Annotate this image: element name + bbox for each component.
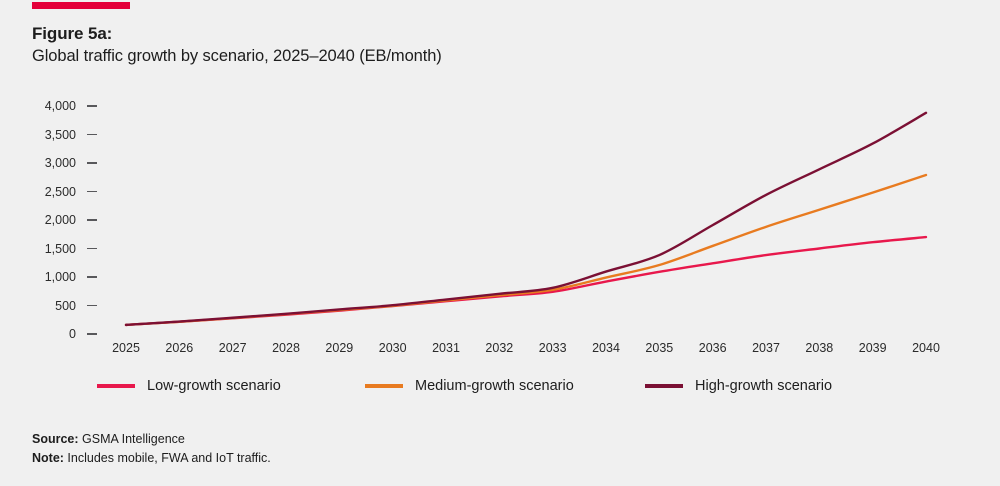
y-axis-tick-mark <box>87 219 97 221</box>
legend-item[interactable]: Low-growth scenario <box>97 378 281 394</box>
x-axis-tick-label: 2036 <box>686 341 740 355</box>
y-axis-tick-label: 500 <box>14 299 76 313</box>
x-axis-tick-label: 2039 <box>846 341 900 355</box>
x-axis-tick-label: 2033 <box>526 341 580 355</box>
y-axis-tick-label: 0 <box>14 327 76 341</box>
x-axis-tick-label: 2028 <box>259 341 313 355</box>
y-axis-tick-label: 1,500 <box>14 242 76 256</box>
note-text: Includes mobile, FWA and IoT traffic. <box>64 451 271 465</box>
x-axis-tick-label: 2037 <box>739 341 793 355</box>
y-axis-tick-mark <box>87 191 97 193</box>
legend-label: High-growth scenario <box>695 378 832 394</box>
x-axis-tick-label: 2029 <box>312 341 366 355</box>
source-label: Source: <box>32 432 79 446</box>
legend-swatch-icon <box>645 384 683 387</box>
y-axis-tick-label: 3,000 <box>14 156 76 170</box>
chart-plot-area <box>0 0 1000 486</box>
note-label: Note: <box>32 451 64 465</box>
x-axis-tick-label: 2040 <box>899 341 953 355</box>
x-axis-tick-label: 2038 <box>792 341 846 355</box>
x-axis-tick-label: 2026 <box>152 341 206 355</box>
chart-svg <box>0 0 1000 486</box>
legend-label: Low-growth scenario <box>147 378 281 394</box>
source-text: GSMA Intelligence <box>79 432 185 446</box>
x-axis-tick-label: 2025 <box>99 341 153 355</box>
x-axis-tick-label: 2030 <box>366 341 420 355</box>
x-axis-tick-label: 2035 <box>632 341 686 355</box>
figure-container: Figure 5a: Global traffic growth by scen… <box>0 0 1000 486</box>
x-axis-tick-label: 2032 <box>472 341 526 355</box>
y-axis-tick-label: 2,500 <box>14 185 76 199</box>
y-axis-tick-mark <box>87 105 97 107</box>
y-axis-tick-mark <box>87 248 97 250</box>
x-axis-tick-label: 2027 <box>206 341 260 355</box>
source-line: Source: GSMA Intelligence <box>32 430 271 449</box>
legend-label: Medium-growth scenario <box>415 378 574 394</box>
y-axis-tick-label: 1,000 <box>14 270 76 284</box>
y-axis-tick-label: 2,000 <box>14 213 76 227</box>
y-axis-tick-mark <box>87 162 97 164</box>
legend-swatch-icon <box>97 384 135 387</box>
note-line: Note: Includes mobile, FWA and IoT traff… <box>32 449 271 468</box>
y-axis-tick-mark <box>87 276 97 278</box>
y-axis-tick-mark <box>87 134 97 136</box>
figure-footnotes: Source: GSMA Intelligence Note: Includes… <box>32 430 271 468</box>
x-axis-tick-label: 2034 <box>579 341 633 355</box>
y-axis-tick-mark <box>87 333 97 335</box>
legend-swatch-icon <box>365 384 403 387</box>
x-axis-tick-label: 2031 <box>419 341 473 355</box>
y-axis-tick-label: 4,000 <box>14 99 76 113</box>
chart-line-series <box>126 237 926 325</box>
chart-legend: Low-growth scenarioMedium-growth scenari… <box>0 378 1000 398</box>
y-axis-tick-label: 3,500 <box>14 128 76 142</box>
legend-item[interactable]: High-growth scenario <box>645 378 832 394</box>
legend-item[interactable]: Medium-growth scenario <box>365 378 574 394</box>
y-axis-tick-mark <box>87 305 97 307</box>
